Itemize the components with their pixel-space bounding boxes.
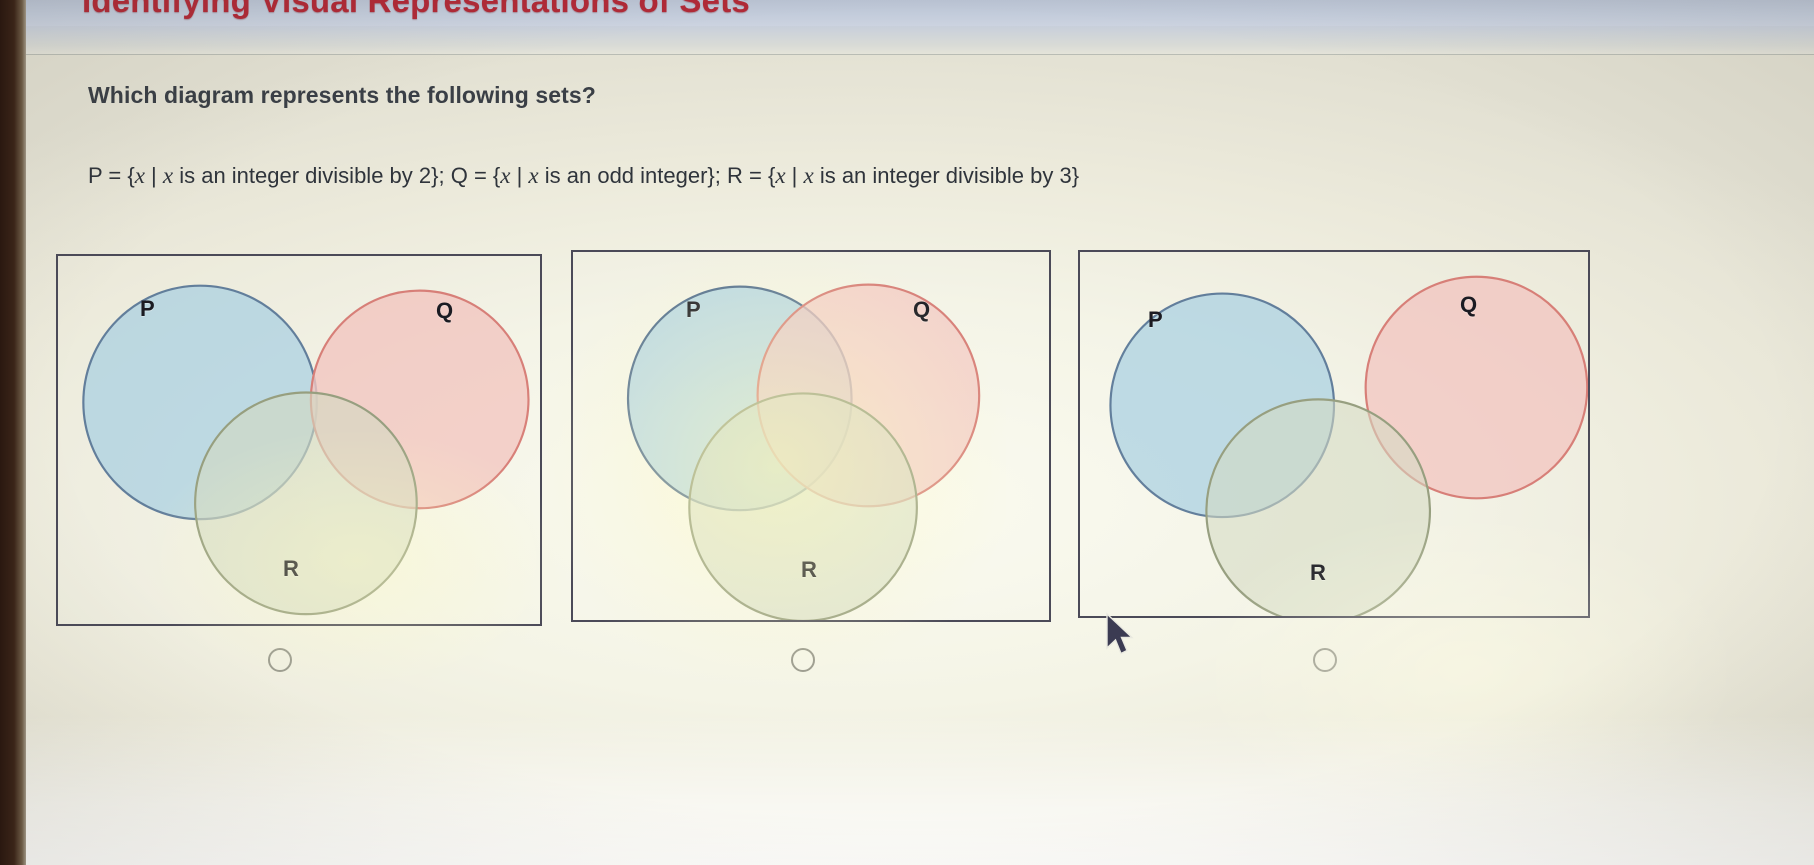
screen-bottom-fade (26, 715, 1814, 865)
mouse-cursor-arrow-icon (1105, 612, 1139, 658)
set-r-bar: | (786, 163, 804, 188)
set-q-var2: x (528, 163, 538, 188)
answer-option-a[interactable]: P Q R (56, 254, 542, 626)
set-p-name: P (88, 163, 102, 188)
set-definition-line: P = {x | x is an integer divisible by 2}… (88, 163, 1079, 189)
set-r-body: is an integer divisible by 3} (814, 163, 1079, 188)
option-b-radio[interactable] (791, 648, 815, 672)
set-p-var: x (135, 163, 145, 188)
header-divider (26, 26, 1814, 55)
option-c-radio[interactable] (1313, 648, 1337, 672)
option-b-panel[interactable]: P Q R (571, 250, 1051, 622)
set-q-name: Q (451, 163, 468, 188)
option-a-panel[interactable]: P Q R (56, 254, 542, 626)
option-a-label-p: P (140, 296, 155, 322)
set-p-eq: = { (102, 163, 134, 188)
option-a-radio[interactable] (268, 648, 292, 672)
answer-option-c[interactable]: P Q R (1078, 250, 1590, 618)
option-b-label-q: Q (913, 297, 930, 323)
option-a-label-q: Q (436, 298, 453, 324)
set-r-eq: = { (743, 163, 775, 188)
option-c-label-q: Q (1460, 292, 1477, 318)
set-q-var: x (500, 163, 510, 188)
set-r-name: R (727, 163, 743, 188)
set-q-eq: = { (468, 163, 500, 188)
set-p-body: is an integer divisible by 2}; (173, 163, 451, 188)
option-a-circle-r (195, 393, 417, 615)
title-bar: Identifying Visual Representations of Se… (26, 0, 1814, 26)
set-q-bar: | (510, 163, 528, 188)
question-prompt: Which diagram represents the following s… (88, 82, 596, 109)
option-c-label-r: R (1310, 560, 1326, 586)
option-a-label-r: R (283, 556, 299, 582)
option-b-label-r: R (801, 557, 817, 583)
set-r-var: x (775, 163, 785, 188)
option-c-panel[interactable]: P Q R (1078, 250, 1590, 618)
option-c-label-p: P (1148, 307, 1163, 333)
page-title: Identifying Visual Representations of Se… (82, 0, 750, 20)
set-r-var2: x (803, 163, 813, 188)
screen-surface: Identifying Visual Representations of Se… (26, 0, 1814, 865)
answer-option-b[interactable]: P Q R (571, 250, 1051, 622)
set-p-var2: x (163, 163, 173, 188)
option-b-circle-r (689, 393, 917, 620)
set-p-bar: | (145, 163, 163, 188)
option-a-venn-diagram (58, 256, 540, 624)
photo-frame: Identifying Visual Representations of Se… (0, 0, 1814, 865)
set-q-body: is an odd integer}; (539, 163, 727, 188)
option-b-label-p: P (686, 297, 701, 323)
